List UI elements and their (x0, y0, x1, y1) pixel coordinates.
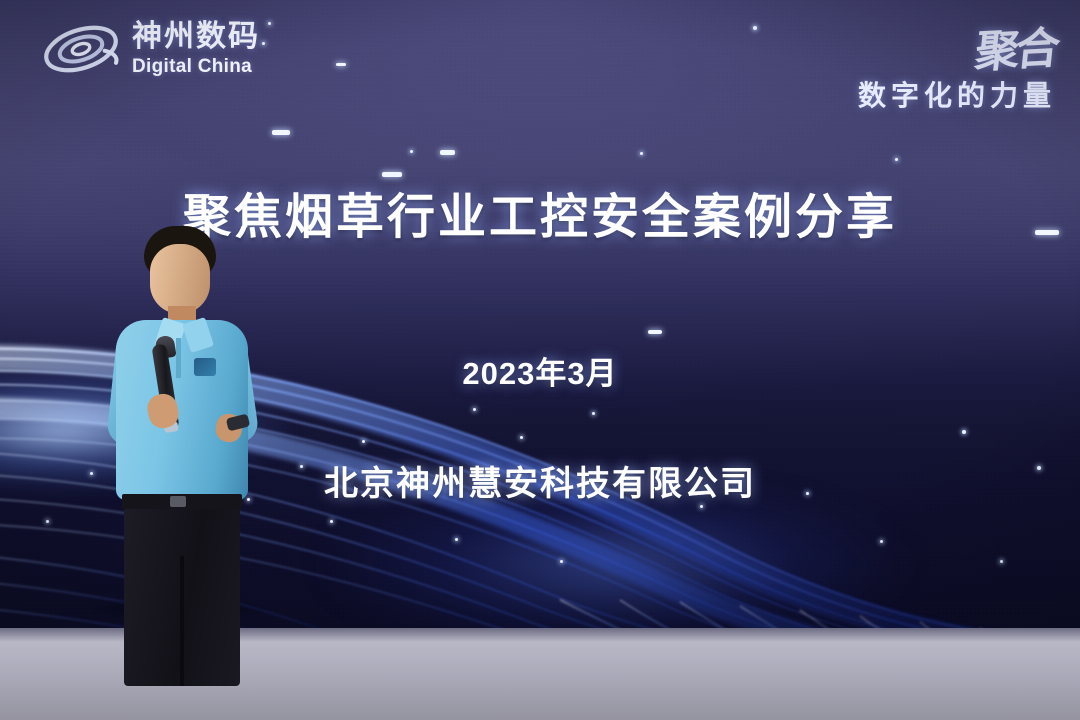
judges-table (0, 560, 270, 720)
speaker-chest-logo-icon (194, 358, 216, 376)
speaker-face-shading (150, 244, 210, 314)
speaker-polo-shirt (116, 320, 248, 500)
conference-photo: 神州数码 Digital China 聚合 数字化的力量 聚焦烟草行业工控安全案… (0, 0, 1080, 720)
speaker-belt-buckle (170, 496, 186, 507)
speaker-shirt-placket (176, 338, 181, 378)
